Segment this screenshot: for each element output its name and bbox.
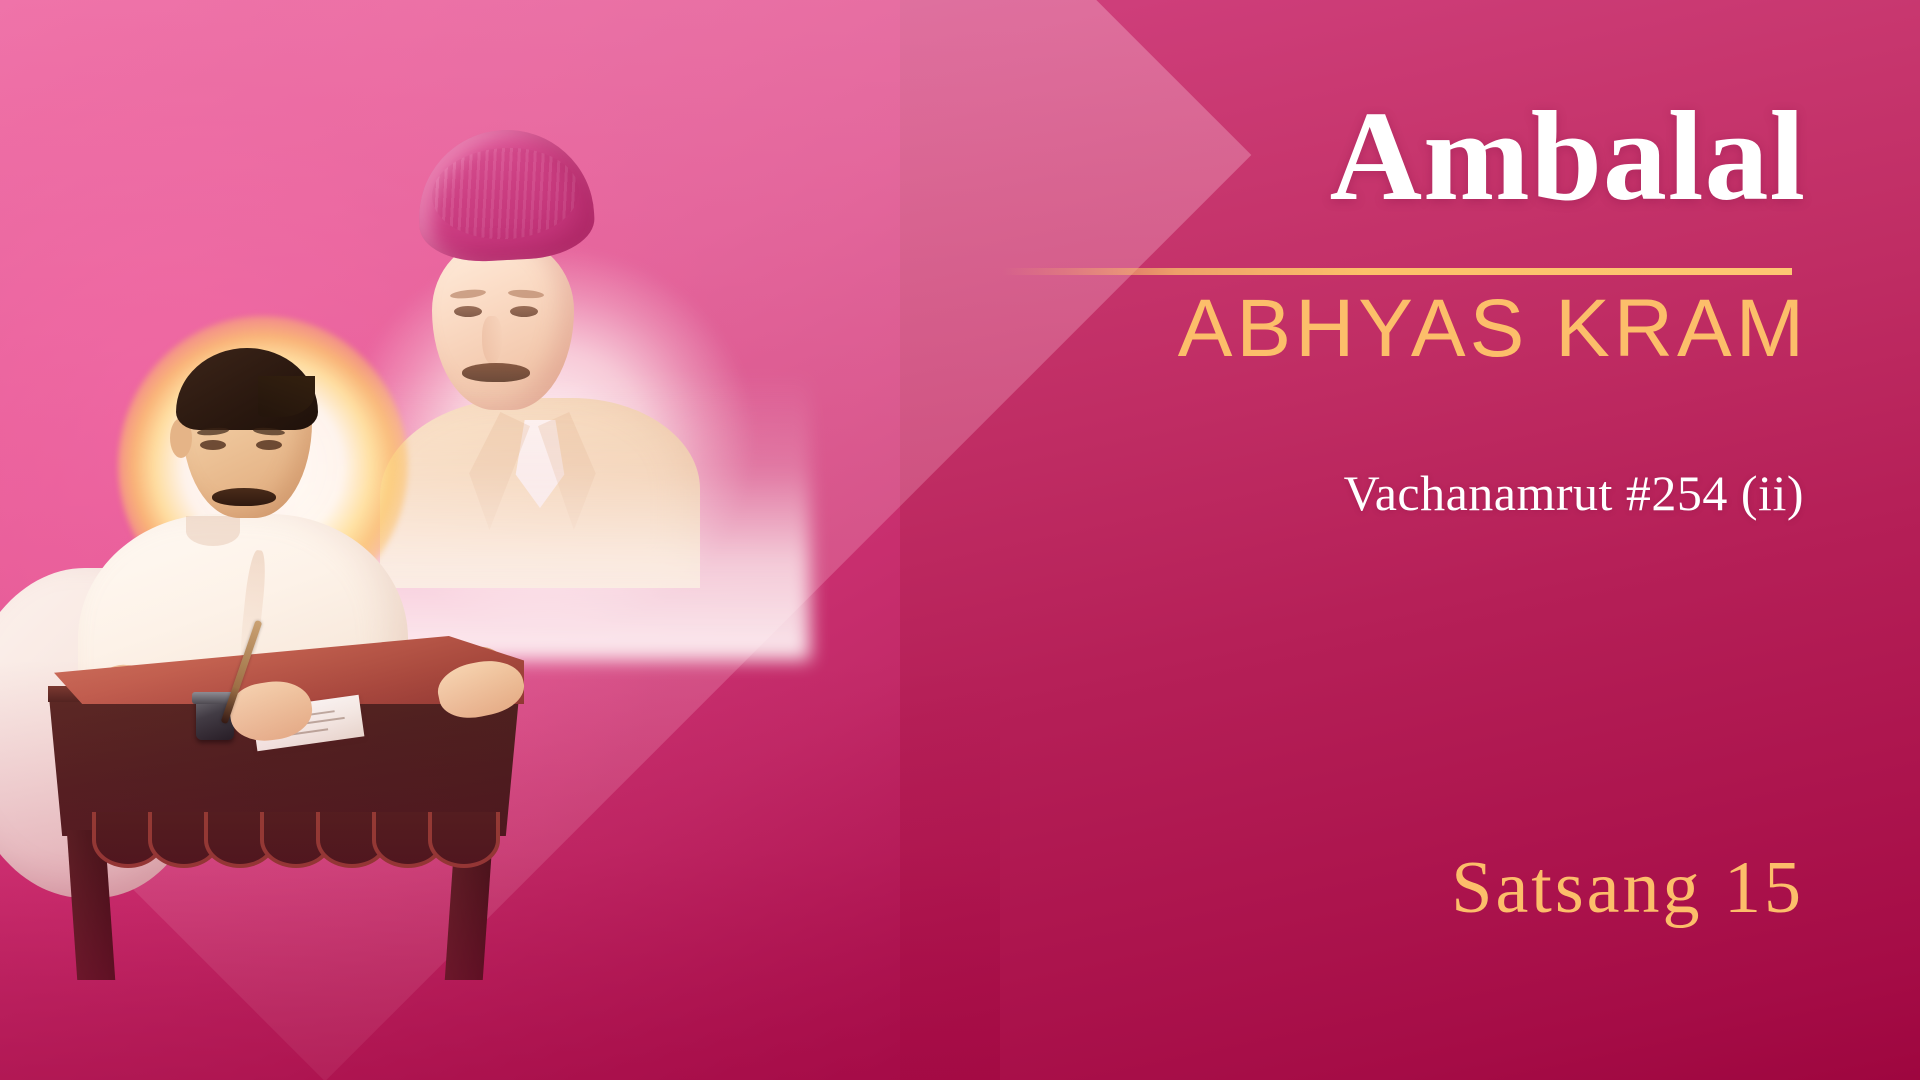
slide-canvas: Ambalal ABHYAS KRAM Vachanamrut #254 (ii… (0, 0, 1920, 1080)
desk-scalloped-apron (92, 812, 492, 870)
eye-left-seated (200, 440, 226, 450)
kurta-neckline (186, 516, 240, 546)
eye-right-seated (256, 440, 282, 450)
session-label: Satsang 15 (1451, 846, 1804, 931)
scripture-reference: Vachanamrut #254 (ii) (1344, 464, 1804, 522)
title-text-block: Ambalal ABHYAS KRAM Vachanamrut #254 (ii… (964, 0, 1824, 1080)
title-divider-rule (1002, 268, 1792, 275)
pink-turban (415, 126, 597, 265)
page-title: Ambalal (1330, 92, 1806, 220)
mustache-seated-figure (212, 488, 276, 506)
portrait-seated-writer (0, 300, 620, 1080)
page-subtitle: ABHYAS KRAM (1178, 286, 1808, 372)
